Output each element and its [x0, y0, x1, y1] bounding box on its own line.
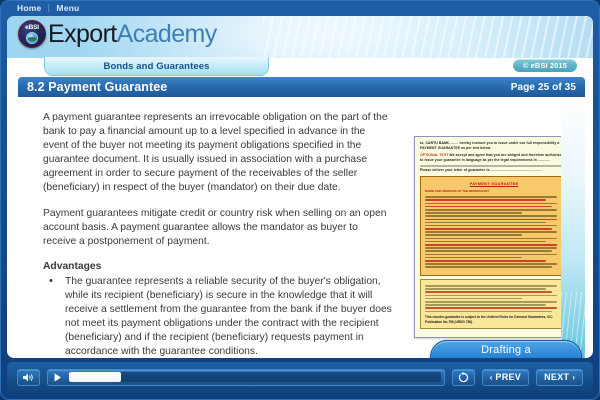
- advantages-heading: Advantages: [43, 260, 393, 274]
- menu-item-menu[interactable]: Menu: [49, 3, 86, 13]
- logo-text-export: Export: [48, 20, 117, 48]
- tab-label: Bonds and Guarantees: [104, 61, 210, 72]
- copyright-badge: © eBSI 2015: [513, 59, 577, 72]
- logo-text: ExportAcademy: [48, 20, 217, 48]
- drafting-payment-guarantee-button[interactable]: Drafting a Payment Guarantee: [430, 340, 582, 358]
- advantages-list: The guarantee represents a reliable secu…: [43, 275, 393, 358]
- tab-bonds-and-guarantees[interactable]: Bonds and Guarantees: [44, 57, 269, 76]
- doc-intro-line-2: OPTIONAL TEXT We accept and agree that y…: [420, 153, 568, 163]
- slide-text-content: A payment guarantee represents an irrevo…: [43, 111, 393, 358]
- doc-rule: [425, 285, 557, 287]
- doc-rule: [425, 215, 557, 217]
- paragraph-1: A payment guarantee represents an irrevo…: [43, 111, 393, 196]
- replay-icon: [458, 372, 469, 383]
- doc-rule: [425, 247, 557, 249]
- advantage-1-text: The guarantee represents a reliable secu…: [65, 276, 392, 357]
- cta-line-2: Payment Guarantee: [455, 357, 557, 358]
- play-button[interactable]: [51, 371, 65, 384]
- doc-intro-line-1: to, CARTU BANK ........ hereby instruct …: [420, 141, 568, 151]
- doc-rule: [425, 234, 522, 236]
- doc-rule: [425, 225, 557, 227]
- list-item: The guarantee represents a reliable secu…: [43, 275, 393, 358]
- page-title: 8.2 Payment Guarantee: [27, 80, 167, 94]
- doc-optional-text-flag: OPTIONAL TEXT: [420, 153, 448, 157]
- seek-progress-fill: [69, 372, 121, 382]
- brand-banner: eBSI ExportAcademy: [7, 16, 593, 58]
- prev-button[interactable]: ‹ PREV: [482, 369, 529, 386]
- slide-title-bar: 8.2 Payment Guarantee Page 25 of 35: [18, 77, 585, 97]
- course-player-window: Home Menu eBSI ExportAcademy Bonds and G…: [0, 0, 600, 400]
- doc-rule: [425, 301, 557, 303]
- doc-rule: [425, 295, 557, 297]
- tab-strip: Bonds and Guarantees © eBSI 2015: [7, 58, 593, 77]
- doc-rule: [425, 311, 552, 313]
- doc-rule: [425, 231, 557, 233]
- doc-rule: [425, 212, 522, 214]
- doc-rule: [425, 257, 522, 259]
- doc-rule: [425, 304, 546, 306]
- doc-rule: [420, 165, 562, 167]
- page-indicator: Page 25 of 35: [511, 82, 576, 93]
- doc-rule: [425, 288, 546, 290]
- doc-rule: [425, 266, 552, 268]
- doc-rule-red: [425, 219, 557, 221]
- doc-rule-red: [425, 228, 552, 230]
- globe-icon: [26, 32, 38, 44]
- doc-rule: [425, 203, 557, 205]
- next-label: NEXT: [544, 372, 569, 382]
- doc-rule-red: [425, 199, 546, 201]
- doc-rule: [425, 238, 557, 240]
- doc-form-subtitle: NAME AND ADDRESS OF THE BENEFICIARY: [425, 189, 563, 193]
- doc-intro-line-3: Please deliver your letter of guarantee …: [420, 168, 568, 173]
- doc-rule-red: [425, 291, 552, 293]
- playback-seek-group: [47, 369, 445, 386]
- copyright-label: © eBSI 2015: [523, 61, 567, 70]
- doc-rule: [425, 222, 546, 224]
- doc-rule: [425, 241, 546, 243]
- speaker-icon: [23, 373, 34, 382]
- logo-text-academy: Academy: [117, 20, 217, 48]
- doc-rule-red: [425, 244, 557, 246]
- replay-button[interactable]: [452, 369, 475, 386]
- seek-bar[interactable]: [69, 372, 441, 382]
- ebsi-globe-badge-icon: eBSI: [18, 20, 46, 48]
- doc-rule-red: [425, 307, 557, 309]
- prev-label: PREV: [495, 372, 521, 382]
- doc-rule: [425, 298, 522, 300]
- sample-guarantee-document-image[interactable]: to, CARTU BANK ........ hereby instruct …: [414, 136, 574, 338]
- player-toolbar: ‹ PREV NEXT ›: [7, 362, 593, 392]
- doc-form-title: PAYMENT GUARANTEE: [425, 181, 563, 186]
- next-button[interactable]: NEXT ›: [536, 369, 583, 386]
- logo[interactable]: eBSI ExportAcademy: [18, 20, 217, 48]
- doc-guarantee-box: PAYMENT GUARANTEE NAME AND ADDRESS OF TH…: [420, 176, 568, 275]
- doc-rule-red: [425, 206, 552, 208]
- doc-counter-guarantee-box: This counter-guarantee is subject to the…: [420, 279, 568, 330]
- doc-rule: [425, 263, 557, 265]
- doc-rule: [425, 209, 557, 211]
- volume-button[interactable]: [17, 369, 40, 386]
- chevron-left-icon: ‹: [490, 373, 493, 382]
- doc-footer-note: This counter-guarantee is subject to the…: [425, 315, 563, 324]
- play-icon: [54, 373, 62, 382]
- top-menu-bar: Home Menu: [0, 0, 600, 16]
- paragraph-2: Payment guarantees mitigate credit or co…: [43, 207, 393, 249]
- doc-rule: [425, 250, 552, 252]
- doc-rule: [425, 196, 557, 198]
- doc-bank-name: CARTU BANK: [425, 141, 449, 145]
- content-card: eBSI ExportAcademy Bonds and Guarantees …: [7, 16, 593, 358]
- cta-line-1: Drafting a: [481, 344, 531, 357]
- doc-rule-red: [425, 260, 546, 262]
- slide-body: A payment guarantee represents an irrevo…: [18, 97, 585, 358]
- doc-rule: [425, 254, 557, 256]
- menu-item-home[interactable]: Home: [10, 3, 48, 13]
- badge-label: eBSI: [25, 25, 39, 32]
- chevron-right-icon: ›: [572, 373, 575, 382]
